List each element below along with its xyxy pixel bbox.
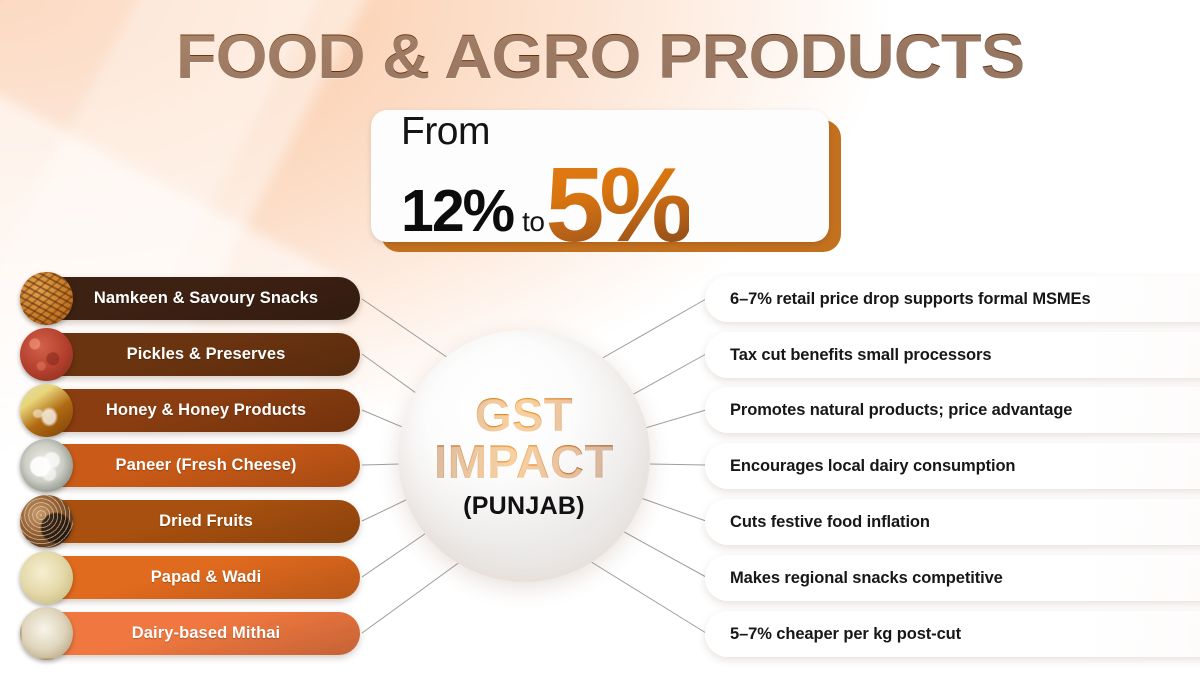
connector-line-12 <box>638 497 706 521</box>
badge-card: From 12% to 5% <box>371 110 829 242</box>
paneer-thumb-texture <box>20 439 73 492</box>
badge-old-rate: 12% <box>401 184 513 238</box>
gst-impact-hub: GST IMPACT (PUNJAB) <box>398 330 650 582</box>
badge-to-label: to <box>522 206 544 238</box>
impact-card[interactable]: Encourages local dairy consumption <box>705 443 1200 489</box>
rate-change-badge: From 12% to 5% <box>371 110 841 252</box>
product-pill-label: Namkeen & Savoury Snacks <box>94 289 318 308</box>
product-pill-label: Dried Fruits <box>159 512 253 531</box>
dried-fruits-thumb <box>20 495 73 548</box>
impact-card[interactable]: 6–7% retail price drop supports formal M… <box>705 276 1200 322</box>
honey-thumb-texture <box>20 384 73 437</box>
papad-thumb-texture <box>20 551 73 604</box>
pickles-thumb-texture <box>20 328 73 381</box>
impact-card-label: Tax cut benefits small processors <box>730 346 991 365</box>
product-pill-label: Honey & Honey Products <box>106 401 306 420</box>
connector-line-13 <box>617 528 706 577</box>
honey-thumb <box>20 384 73 437</box>
product-pill[interactable]: Papad & Wadi <box>22 556 360 599</box>
impact-card[interactable]: 5–7% cheaper per kg post-cut <box>705 611 1200 657</box>
impact-card[interactable]: Cuts festive food inflation <box>705 499 1200 545</box>
papad-thumb <box>20 551 73 604</box>
mithai-thumb-texture <box>20 607 73 660</box>
impact-card-label: 5–7% cheaper per kg post-cut <box>730 625 961 644</box>
connector-line-4 <box>362 464 400 465</box>
impact-card-label: Makes regional snacks competitive <box>730 569 1003 588</box>
pickles-thumb <box>20 328 73 381</box>
impact-card-label: Cuts festive food inflation <box>730 513 930 532</box>
badge-new-rate: 5% <box>545 162 688 242</box>
hub-title-line2: IMPACT <box>434 438 614 485</box>
namkeen-snacks-thumb-texture <box>20 272 73 325</box>
impact-card-label: Encourages local dairy consumption <box>730 457 1015 476</box>
product-pill[interactable]: Honey & Honey Products <box>22 389 360 432</box>
product-pill[interactable]: Dried Fruits <box>22 500 360 543</box>
namkeen-snacks-thumb <box>20 272 73 325</box>
product-pill[interactable]: Paneer (Fresh Cheese) <box>22 444 360 487</box>
connector-line-11 <box>650 464 706 465</box>
impact-card-label: 6–7% retail price drop supports formal M… <box>730 290 1091 309</box>
dried-fruits-thumb-texture <box>20 495 73 548</box>
hub-title-line1: GST <box>434 391 614 438</box>
hub-title: GST IMPACT <box>434 391 614 485</box>
product-pill[interactable]: Namkeen & Savoury Snacks <box>22 277 360 320</box>
paneer-thumb <box>20 439 73 492</box>
badge-rate-row: 12% to 5% <box>401 152 689 239</box>
connector-line-5 <box>362 498 410 521</box>
product-pill[interactable]: Dairy-based Mithai <box>22 612 360 655</box>
impact-card[interactable]: Promotes natural products; price advanta… <box>705 387 1200 433</box>
impact-card-label: Promotes natural products; price advanta… <box>730 401 1072 420</box>
product-pill[interactable]: Pickles & Preserves <box>22 333 360 376</box>
page-title: FOOD & AGRO PRODUCTS <box>0 26 1200 89</box>
badge-old-group: From 12% to 5% <box>401 113 689 238</box>
connector-line-6 <box>362 529 432 577</box>
product-pill-label: Paneer (Fresh Cheese) <box>116 456 297 475</box>
product-pill-label: Pickles & Preserves <box>127 345 286 364</box>
product-pill-label: Dairy-based Mithai <box>132 624 281 643</box>
mithai-thumb <box>20 607 73 660</box>
impact-card[interactable]: Makes regional snacks competitive <box>705 555 1200 601</box>
hub-subtitle: (PUNJAB) <box>463 492 585 521</box>
impact-card[interactable]: Tax cut benefits small processors <box>705 332 1200 378</box>
product-pill-label: Papad & Wadi <box>151 568 262 587</box>
connector-line-7 <box>362 556 468 633</box>
